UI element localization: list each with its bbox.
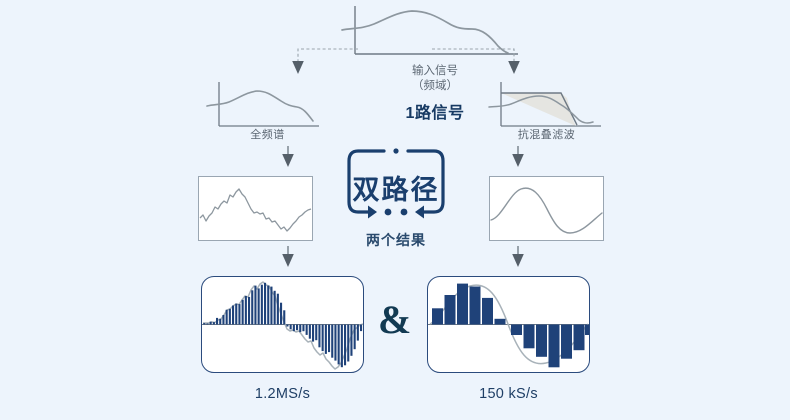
bar xyxy=(203,323,205,324)
bar xyxy=(511,325,522,336)
branch-caption-left: 全频谱 xyxy=(195,128,340,142)
output-left-bars-chart xyxy=(202,277,363,372)
branch-arrow-left-icon xyxy=(292,61,304,74)
arrow-left-to-output xyxy=(281,246,295,268)
bar xyxy=(264,283,266,325)
bar xyxy=(251,290,253,324)
output-rate-left: 1.2MS/s xyxy=(201,386,364,402)
bar xyxy=(290,325,292,330)
filter-shade xyxy=(501,93,576,126)
output-rate-right: 150 kS/s xyxy=(427,386,590,402)
path-dot-top xyxy=(393,148,398,153)
branch-connector-left xyxy=(290,44,360,78)
bar xyxy=(549,325,560,368)
bar xyxy=(267,286,269,325)
antialias-filter-chart xyxy=(487,80,607,132)
bar xyxy=(350,325,352,356)
bar xyxy=(360,325,362,332)
arrow-head-icon xyxy=(282,254,294,267)
diagram-canvas: 输入信号 （频域） 1路信号 全频谱 xyxy=(0,0,790,420)
bar xyxy=(229,309,231,325)
arrow-right-to-capture xyxy=(511,146,525,168)
arrow-left-to-capture xyxy=(281,146,295,168)
bar xyxy=(338,325,340,365)
branch-line-right xyxy=(432,49,514,62)
bar xyxy=(309,325,311,339)
two-results-label: 两个结果 xyxy=(331,230,461,250)
bar xyxy=(213,322,215,324)
bar xyxy=(238,304,240,324)
path-dot-1 xyxy=(385,209,392,216)
bar xyxy=(283,310,285,324)
bar xyxy=(322,325,324,352)
branch-connector-right xyxy=(430,44,522,78)
ampersand-symbol: & xyxy=(378,300,411,340)
bar xyxy=(341,325,343,368)
bar xyxy=(306,325,308,335)
bar xyxy=(561,325,572,359)
bar xyxy=(331,325,333,358)
bar xyxy=(274,291,276,325)
bar xyxy=(432,308,443,324)
bar xyxy=(334,325,336,361)
arrow-head-icon xyxy=(512,254,524,267)
bar xyxy=(536,325,547,357)
bar xyxy=(248,297,250,325)
bar xyxy=(242,300,244,325)
arrow-inward-right-icon xyxy=(415,206,424,219)
filtered-capture-panel xyxy=(489,176,604,241)
bar xyxy=(286,325,288,327)
bar xyxy=(206,324,208,325)
bar xyxy=(302,325,304,332)
arrow-right-to-output xyxy=(511,246,525,268)
bar xyxy=(216,318,218,325)
bar xyxy=(457,284,468,325)
branch-arrow-right-icon xyxy=(508,61,520,74)
bar xyxy=(312,325,314,342)
bar xyxy=(574,325,585,351)
bar xyxy=(245,296,247,325)
bar xyxy=(219,319,221,325)
full-spectrum-chart xyxy=(205,80,325,132)
path-dot-2 xyxy=(401,209,408,216)
full-spectrum-trace xyxy=(207,91,313,121)
bar xyxy=(445,295,456,325)
bar xyxy=(495,319,506,325)
bar xyxy=(235,304,237,325)
bar xyxy=(344,325,346,366)
bar xyxy=(277,294,279,325)
bar xyxy=(357,325,359,341)
bar xyxy=(325,325,327,354)
output-right-bars-chart xyxy=(428,277,589,372)
bar xyxy=(296,325,298,331)
sine-trace xyxy=(491,188,602,233)
output-panel-right xyxy=(427,276,590,373)
bar xyxy=(270,287,272,325)
bar xyxy=(280,303,282,325)
arrow-head-icon xyxy=(282,154,294,167)
bar xyxy=(299,325,301,333)
bar xyxy=(258,288,260,324)
bar xyxy=(585,325,589,336)
arrow-inward-left-icon xyxy=(368,206,377,219)
bar xyxy=(328,325,330,353)
output-panel-left xyxy=(201,276,364,373)
bar xyxy=(318,325,320,348)
bar xyxy=(354,325,356,350)
bar xyxy=(222,315,224,325)
branch-caption-right: 抗混叠滤波 xyxy=(474,128,619,142)
wideband-capture-panel xyxy=(198,176,313,241)
bar xyxy=(293,325,295,332)
branch-line-left xyxy=(298,49,358,62)
bar xyxy=(254,286,256,325)
noise-trace xyxy=(200,189,311,231)
bar xyxy=(226,310,228,325)
bar xyxy=(470,287,481,325)
bar xyxy=(347,325,349,362)
bar xyxy=(261,285,263,325)
bar xyxy=(210,322,212,325)
bar xyxy=(232,306,234,325)
dual-path-label: 双路径 xyxy=(344,168,448,207)
bar xyxy=(524,325,535,349)
bar xyxy=(482,298,493,325)
arrow-head-icon xyxy=(512,154,524,167)
bar xyxy=(315,325,317,341)
